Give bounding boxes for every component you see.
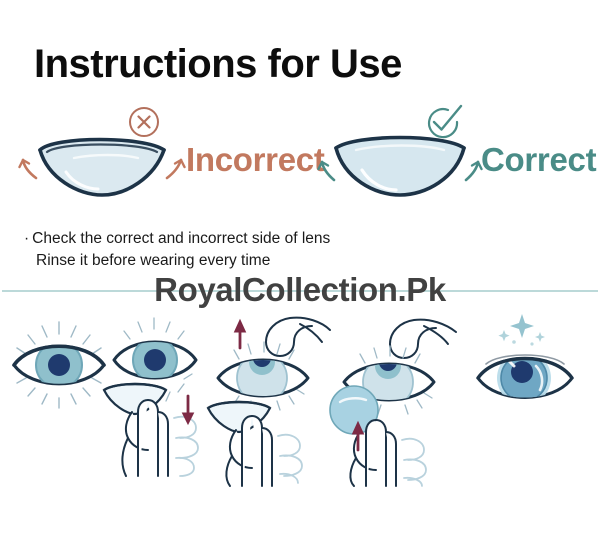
- hand-back-fingers: [278, 435, 302, 483]
- correct-lens-item: Correct: [312, 100, 600, 205]
- correct-lens-illustration: [312, 100, 487, 205]
- hand-back-fingers: [402, 439, 426, 486]
- page-title: Instructions for Use: [34, 44, 402, 84]
- step-place-lens: [324, 308, 464, 493]
- step-lens-in-place: [466, 308, 586, 428]
- note-text-1: Check the correct and incorrect side of …: [32, 230, 330, 247]
- sparkle-icons: [498, 314, 545, 346]
- application-steps: [0, 308, 600, 488]
- note-line-2: Rinse it before wearing every time: [24, 250, 444, 272]
- eye-shape: [14, 342, 104, 388]
- lens-shape-everted: [40, 140, 164, 196]
- incorrect-label: Incorrect: [186, 143, 325, 176]
- upper-hand-illustration: [266, 318, 330, 356]
- note-text-2: Rinse it before wearing every time: [36, 252, 270, 269]
- hand-back-fingers: [174, 417, 198, 476]
- lens-comparison-row: Incorrect: [0, 100, 600, 205]
- incorrect-lens-item: Incorrect: [14, 100, 309, 205]
- correct-label: Correct: [481, 143, 596, 176]
- note-line-1: ·Check the correct and incorrect side of…: [24, 228, 444, 250]
- eye-shape: [218, 349, 308, 403]
- step-pull-lower-lid: [96, 308, 221, 488]
- lens-shape-bowl: [336, 138, 464, 196]
- watermark-text: RoyalCollection.Pk: [0, 271, 600, 309]
- upper-hand-illustration: [390, 320, 456, 358]
- circle-x-icon: [130, 108, 158, 136]
- instructions-page: Instructions for Use: [0, 0, 600, 547]
- lift-upper-lid-illustration: [204, 308, 332, 488]
- eye-shape: [114, 338, 196, 382]
- pull-lower-lid-illustration: [96, 308, 221, 483]
- circle-check-icon: [429, 106, 461, 137]
- eye-shape: [478, 351, 572, 405]
- step-lift-upper-lid: [204, 308, 332, 493]
- arrow-up-icon: [235, 320, 246, 348]
- instruction-notes: ·Check the correct and incorrect side of…: [24, 228, 444, 272]
- incorrect-lens-illustration: [14, 100, 189, 205]
- lens-in-place-illustration: [466, 308, 586, 423]
- place-lens-illustration: [324, 308, 464, 488]
- note-bullet: ·: [24, 230, 29, 247]
